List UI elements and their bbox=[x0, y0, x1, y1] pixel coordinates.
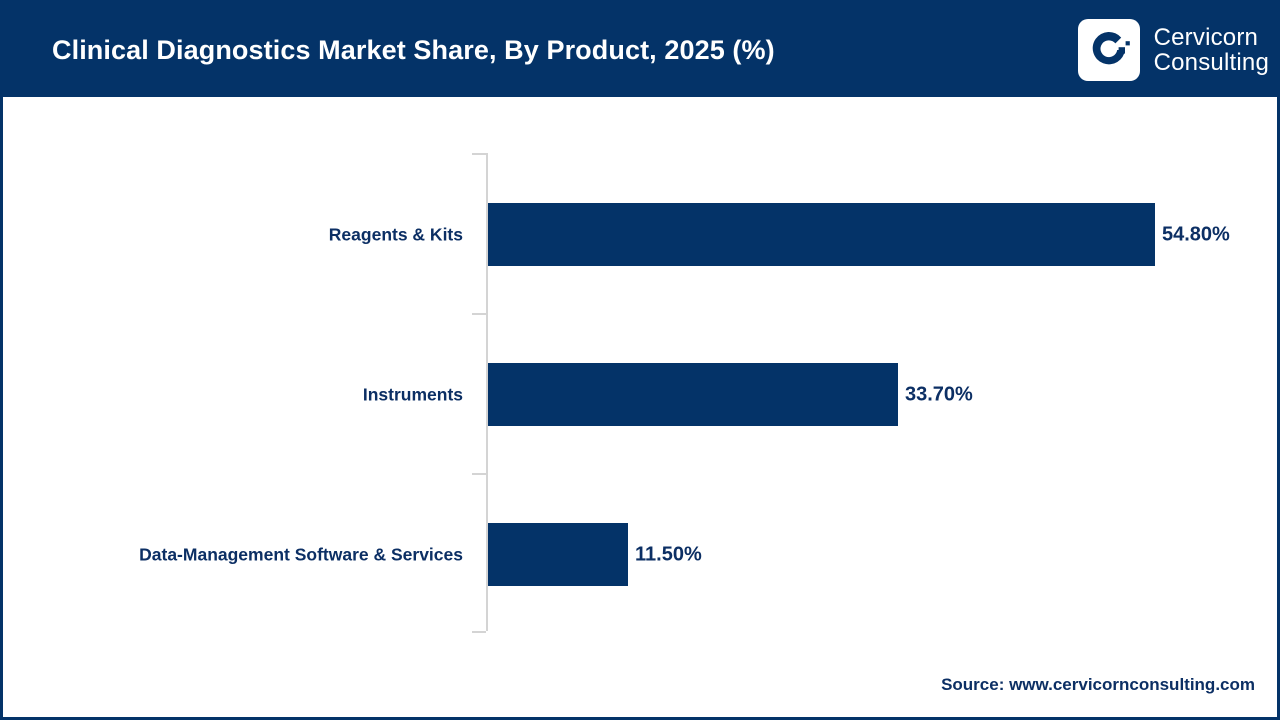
axis-tick bbox=[472, 153, 486, 155]
axis-tick bbox=[472, 631, 486, 633]
source-note: Source: www.cervicornconsulting.com bbox=[941, 675, 1255, 695]
bar[interactable] bbox=[488, 203, 1155, 266]
chart-card: Clinical Diagnostics Market Share, By Pr… bbox=[0, 0, 1280, 720]
cervicorn-c-mark-icon bbox=[1078, 19, 1140, 81]
axis-tick bbox=[472, 473, 486, 475]
bar-row: Reagents & Kits 54.80% bbox=[3, 203, 1277, 266]
plot-area: Reagents & Kits 54.80% Instruments 33.70… bbox=[3, 97, 1277, 720]
bar-value-label: 11.50% bbox=[635, 543, 702, 566]
category-label: Reagents & Kits bbox=[329, 224, 463, 245]
brand-name-line2: Consulting bbox=[1154, 50, 1269, 75]
bar[interactable] bbox=[488, 523, 628, 586]
category-label: Data-Management Software & Services bbox=[139, 544, 463, 565]
bar[interactable] bbox=[488, 363, 898, 426]
category-label: Instruments bbox=[363, 384, 463, 405]
bar-row: Data-Management Software & Services 11.5… bbox=[3, 523, 1277, 586]
brand-name-line1: Cervicorn bbox=[1154, 25, 1269, 50]
bar-value-label: 33.70% bbox=[905, 383, 973, 406]
bar-row: Instruments 33.70% bbox=[3, 363, 1277, 426]
chart-header: Clinical Diagnostics Market Share, By Pr… bbox=[3, 3, 1280, 97]
page-title: Clinical Diagnostics Market Share, By Pr… bbox=[52, 35, 775, 66]
brand-name: Cervicorn Consulting bbox=[1154, 25, 1269, 76]
axis-tick bbox=[472, 313, 486, 315]
brand-logo: Cervicorn Consulting bbox=[1078, 19, 1269, 81]
bar-value-label: 54.80% bbox=[1162, 223, 1230, 246]
